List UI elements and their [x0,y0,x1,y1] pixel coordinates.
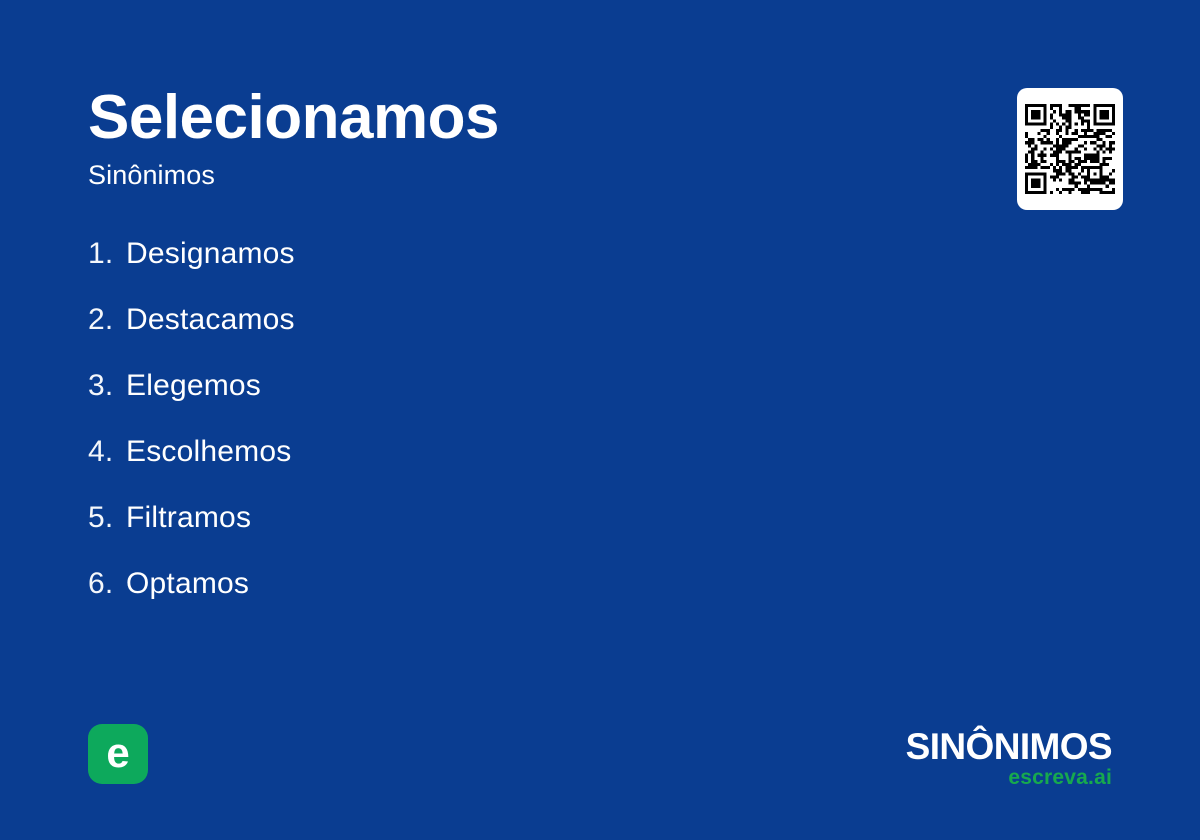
list-item: 2. Destacamos [88,303,908,369]
page-title: Selecionamos [88,86,888,149]
page-subtitle: Sinônimos [88,161,888,191]
wordmark-primary: SINÔNIMOS [906,728,1112,765]
list-item-word: Filtramos [126,501,251,535]
list-item: 3. Elegemos [88,369,908,435]
list-item-word: Destacamos [126,303,295,337]
list-item-index: 1. [88,237,126,271]
synonym-list: 1. Designamos 2. Destacamos 3. Elegemos … [88,237,908,633]
list-item-word: Escolhemos [126,435,291,469]
list-item-index: 6. [88,567,126,601]
header: Selecionamos Sinônimos [88,86,888,191]
synonym-card: Selecionamos Sinônimos 1. Designamos 2. … [0,0,1200,840]
qr-code-container[interactable] [1017,88,1123,210]
list-item-word: Optamos [126,567,249,601]
escreva-logo-badge[interactable]: e [88,724,148,784]
list-item-index: 4. [88,435,126,469]
list-item: 4. Escolhemos [88,435,908,501]
list-item-index: 3. [88,369,126,403]
list-item: 6. Optamos [88,567,908,633]
qr-code-icon[interactable] [1025,104,1115,194]
brand-wordmark: SINÔNIMOS escreva.ai [906,728,1112,788]
wordmark-secondary: escreva.ai [906,767,1112,788]
list-item-index: 2. [88,303,126,337]
brand-badge-letter: e [106,732,129,774]
list-item-word: Elegemos [126,369,261,403]
list-item-index: 5. [88,501,126,535]
list-item: 5. Filtramos [88,501,908,567]
list-item: 1. Designamos [88,237,908,303]
list-item-word: Designamos [126,237,295,271]
